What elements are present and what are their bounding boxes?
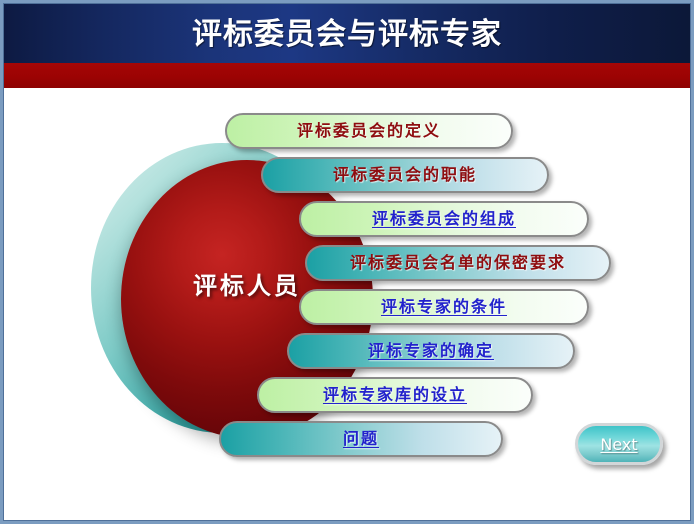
diagram-item-label: 问题 [343,431,379,447]
diagram-stage: 评标人员 评标委员会的定义 评标委员会的职能 评标委员会的组成 评标委员会名单的… [3,88,691,521]
slide-header: 评标委员会与评标专家 [3,3,691,63]
diagram-item-4[interactable]: 评标专家的条件 [299,289,589,325]
slide-canvas: 评标委员会与评标专家 www.zbtbw.com 评标人员 评标委员会的定义 评… [0,0,694,524]
diagram-item-5[interactable]: 评标专家的确定 [287,333,575,369]
diagram-item-label: 评标专家的确定 [368,343,494,359]
next-button-label: Next [600,435,637,454]
diagram-item-1[interactable]: 评标委员会的职能 [261,157,549,193]
website-bar: www.zbtbw.com [3,63,691,88]
diagram-item-7[interactable]: 问题 [219,421,503,457]
diagram-item-3[interactable]: 评标委员会名单的保密要求 [305,245,611,281]
diagram-item-label: 评标委员会的组成 [372,211,516,227]
diagram-item-label: 评标委员会的定义 [297,123,441,139]
diagram-item-2[interactable]: 评标委员会的组成 [299,201,589,237]
diagram-item-label: 评标专家的条件 [381,299,507,315]
diagram-item-label: 评标专家库的设立 [323,387,467,403]
diagram-item-6[interactable]: 评标专家库的设立 [257,377,533,413]
next-button[interactable]: Next [575,423,663,465]
diagram-item-label: 评标委员会的职能 [333,167,477,183]
page-title: 评标委员会与评标专家 [3,9,691,53]
diagram-item-label: 评标委员会名单的保密要求 [350,255,566,271]
diagram-item-0[interactable]: 评标委员会的定义 [225,113,513,149]
